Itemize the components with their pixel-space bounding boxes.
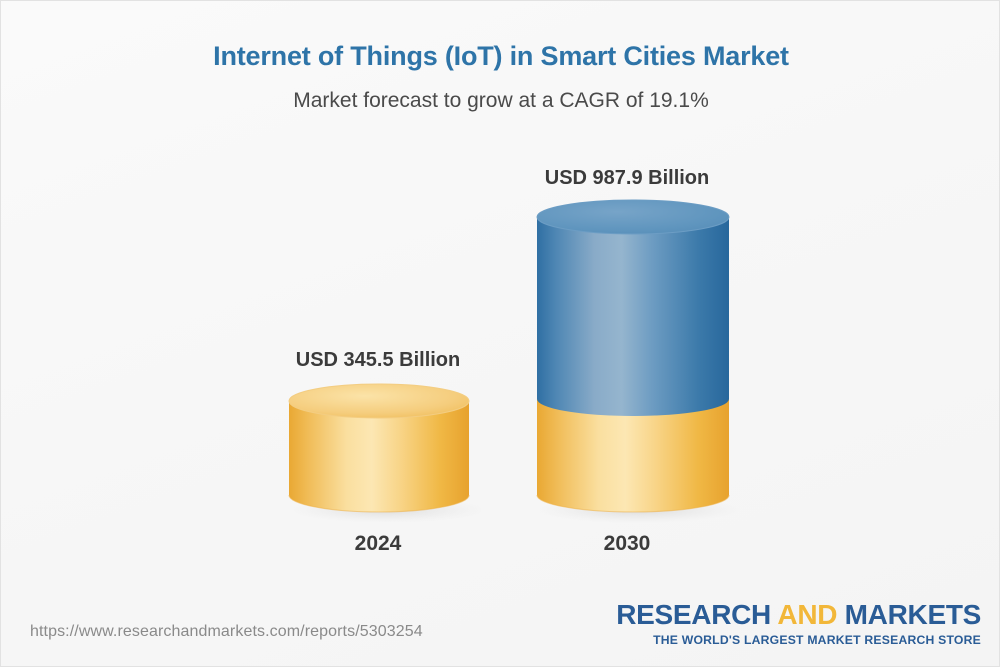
chart-subtitle: Market forecast to grow at a CAGR of 19.… <box>1 89 1000 113</box>
bar-cylinder-2024 <box>277 383 481 525</box>
category-label-2030: 2030 <box>527 532 727 556</box>
bar-cylinder-2030 <box>525 198 741 525</box>
brand-logo-wordmark: RESEARCH AND MARKETS <box>616 601 981 629</box>
value-label-2024: USD 345.5 Billion <box>278 349 478 372</box>
infographic-canvas: Internet of Things (IoT) in Smart Cities… <box>0 0 1000 667</box>
brand-tagline: THE WORLD'S LARGEST MARKET RESEARCH STOR… <box>616 634 981 646</box>
brand-logo[interactable]: RESEARCH AND MARKETS THE WORLD'S LARGEST… <box>616 601 981 646</box>
page-title: Internet of Things (IoT) in Smart Cities… <box>1 41 1000 72</box>
brand-word-and: AND <box>777 599 837 630</box>
value-label-2030: USD 987.9 Billion <box>527 167 727 190</box>
source-url[interactable]: https://www.researchandmarkets.com/repor… <box>30 623 423 641</box>
brand-word-research: RESEARCH <box>616 599 777 630</box>
category-label-2024: 2024 <box>278 532 478 556</box>
brand-word-markets: MARKETS <box>837 599 981 630</box>
